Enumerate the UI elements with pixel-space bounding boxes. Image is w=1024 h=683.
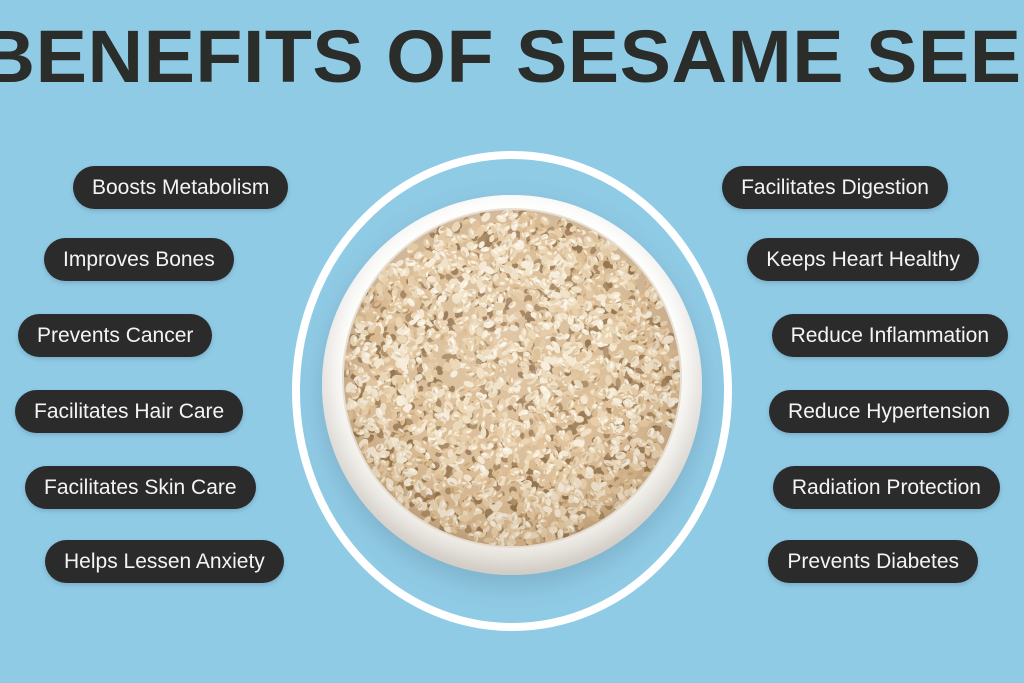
benefit-pill-keeps-heart-healthy[interactable]: Keeps Heart Healthy <box>747 238 979 281</box>
sesame-seed-mass <box>344 210 680 546</box>
benefit-pill-facilitates-hair-care[interactable]: Facilitates Hair Care <box>15 390 243 433</box>
benefit-pill-prevents-cancer[interactable]: Prevents Cancer <box>18 314 212 357</box>
benefit-pill-label: Prevents Cancer <box>37 314 193 357</box>
benefit-pill-label: Boosts Metabolism <box>92 166 269 209</box>
benefit-pill-radiation-protection[interactable]: Radiation Protection <box>773 466 1000 509</box>
benefit-pill-reduce-inflammation[interactable]: Reduce Inflammation <box>772 314 1008 357</box>
benefit-pill-label: Improves Bones <box>63 238 215 281</box>
benefit-pill-helps-lessen-anxiety[interactable]: Helps Lessen Anxiety <box>45 540 284 583</box>
benefit-pill-improves-bones[interactable]: Improves Bones <box>44 238 234 281</box>
benefit-pill-prevents-diabetes[interactable]: Prevents Diabetes <box>768 540 978 583</box>
benefit-pill-label: Keeps Heart Healthy <box>766 238 960 281</box>
benefit-pill-facilitates-digestion[interactable]: Facilitates Digestion <box>722 166 948 209</box>
benefit-pill-label: Facilitates Digestion <box>741 166 929 209</box>
benefit-pill-label: Reduce Hypertension <box>788 390 990 433</box>
benefit-pill-label: Helps Lessen Anxiety <box>64 540 265 583</box>
benefit-pill-label: Facilitates Hair Care <box>34 390 224 433</box>
benefit-pill-label: Facilitates Skin Care <box>44 466 237 509</box>
benefit-pill-facilitates-skin-care[interactable]: Facilitates Skin Care <box>25 466 256 509</box>
center-illustration <box>290 148 734 634</box>
benefit-pill-label: Prevents Diabetes <box>787 540 959 583</box>
benefit-pill-label: Reduce Inflammation <box>791 314 989 357</box>
benefit-pill-reduce-hypertension[interactable]: Reduce Hypertension <box>769 390 1009 433</box>
sesame-seed-texture <box>344 210 680 546</box>
benefit-pill-boosts-metabolism[interactable]: Boosts Metabolism <box>73 166 288 209</box>
infographic-poster: BENEFITS OF SESAME SEEDS Boosts Metaboli… <box>0 0 1024 683</box>
benefit-pill-label: Radiation Protection <box>792 466 981 509</box>
page-title: BENEFITS OF SESAME SEEDS <box>0 14 1024 100</box>
